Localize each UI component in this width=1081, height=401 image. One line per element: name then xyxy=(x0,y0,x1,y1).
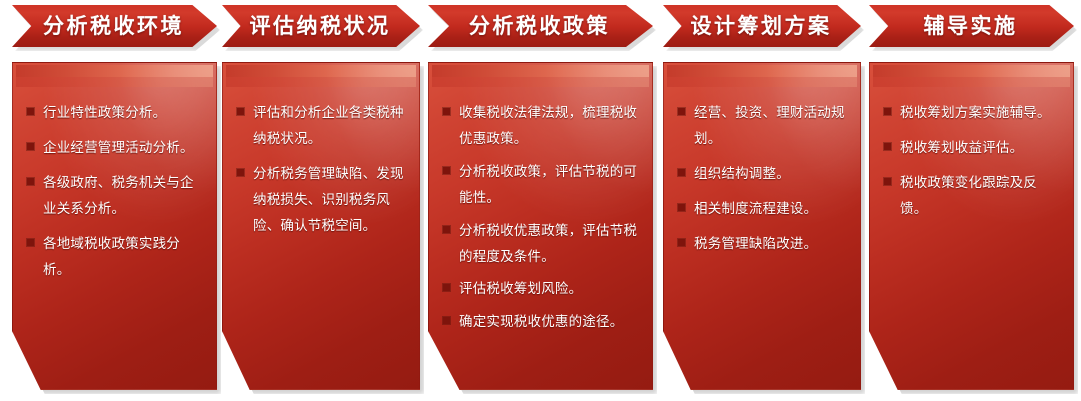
list-item: 评估和分析企业各类税种纳税状况。 xyxy=(237,101,409,153)
bullet-text: 收集税收法律法规，梳理税收优惠政策。 xyxy=(459,101,642,153)
square-bullet-icon xyxy=(443,284,450,291)
list-item: 收集税收法律法规，梳理税收优惠政策。 xyxy=(443,101,642,153)
process-column-4: 设计筹划方案 经营、投资、理财活动规划。 组织结构调整。 xyxy=(663,0,861,401)
bullet-text: 相关制度流程建设。 xyxy=(694,197,817,223)
bullet-text: 各地域税收政策实践分析。 xyxy=(43,232,206,284)
stage-panel-2: 评估和分析企业各类税种纳税状况。 分析税务管理缺陷、发现纳税损失、识别税务风险、… xyxy=(222,62,420,390)
bullet-text: 税收筹划收益评估。 xyxy=(900,136,1023,162)
square-bullet-icon xyxy=(678,239,685,246)
bullet-text: 组织结构调整。 xyxy=(694,162,790,188)
list-item: 经营、投资、理财活动规划。 xyxy=(678,101,850,153)
bullet-text: 行业特性政策分析。 xyxy=(43,101,166,127)
square-bullet-icon xyxy=(443,167,450,174)
bullet-text: 分析税务管理缺陷、发现纳税损失、识别税务风险、确认节税空间。 xyxy=(253,162,409,240)
bullet-text: 税收政策变化跟踪及反馈。 xyxy=(900,171,1063,223)
list-item: 分析税收优惠政策，评估节税的程度及条件。 xyxy=(443,219,642,271)
list-item: 税务管理缺陷改进。 xyxy=(678,232,850,258)
stage-panel-wrap-3: 收集税收法律法规，梳理税收优惠政策。 分析税收政策，评估节税的可能性。 分析税收… xyxy=(428,62,653,390)
list-item: 税收政策变化跟踪及反馈。 xyxy=(884,171,1063,223)
list-item: 各级政府、税务机关与企业关系分析。 xyxy=(27,171,206,223)
square-bullet-icon xyxy=(27,178,34,185)
square-bullet-icon xyxy=(237,108,244,115)
list-item: 确定实现税收优惠的途径。 xyxy=(443,310,642,336)
list-item: 行业特性政策分析。 xyxy=(27,101,206,127)
bullet-text: 分析税收优惠政策，评估节税的程度及条件。 xyxy=(459,219,642,271)
square-bullet-icon xyxy=(27,108,34,115)
bullet-list-5: 税收筹划方案实施辅导。 税收筹划收益评估。 税收政策变化跟踪及反馈。 xyxy=(870,63,1073,223)
square-bullet-icon xyxy=(237,169,244,176)
stage-banner-title-3: 分析税收政策 xyxy=(469,16,610,37)
list-item: 企业经营管理活动分析。 xyxy=(27,136,206,162)
square-bullet-icon xyxy=(27,239,34,246)
stage-banner-4[interactable]: 设计筹划方案 xyxy=(663,5,861,47)
bullet-text: 评估税收筹划风险。 xyxy=(459,277,582,303)
bullet-text: 税收筹划方案实施辅导。 xyxy=(900,101,1051,127)
stage-panel-1: 行业特性政策分析。 企业经营管理活动分析。 各级政府、税务机关与企业关系分析。 … xyxy=(12,62,217,390)
bullet-text: 各级政府、税务机关与企业关系分析。 xyxy=(43,171,206,223)
list-item: 组织结构调整。 xyxy=(678,162,850,188)
bullet-list-3: 收集税收法律法规，梳理税收优惠政策。 分析税收政策，评估节税的可能性。 分析税收… xyxy=(429,63,652,336)
bullet-list-1: 行业特性政策分析。 企业经营管理活动分析。 各级政府、税务机关与企业关系分析。 … xyxy=(13,63,216,283)
bullet-list-4: 经营、投资、理财活动规划。 组织结构调整。 相关制度流程建设。 税务管理缺陷改进… xyxy=(664,63,860,258)
list-item: 税收筹划方案实施辅导。 xyxy=(884,101,1063,127)
stage-panel-5: 税收筹划方案实施辅导。 税收筹划收益评估。 税收政策变化跟踪及反馈。 xyxy=(869,62,1074,390)
list-item: 各地域税收政策实践分析。 xyxy=(27,232,206,284)
process-column-1: 分析税收环境 行业特性政策分析。 企业经营管理活动分析。 xyxy=(12,0,217,401)
stage-banner-title-1: 分析税收环境 xyxy=(43,16,184,37)
square-bullet-icon xyxy=(884,108,891,115)
process-column-3: 分析税收政策 收集税收法律法规，梳理税收优惠政策。 分析税收政策，评估节税的可能… xyxy=(428,0,653,401)
list-item: 税收筹划收益评估。 xyxy=(884,136,1063,162)
stage-banner-title-2: 评估纳税状况 xyxy=(250,16,391,37)
stage-panel-wrap-4: 经营、投资、理财活动规划。 组织结构调整。 相关制度流程建设。 税务管理缺陷改进… xyxy=(663,62,861,390)
square-bullet-icon xyxy=(884,178,891,185)
stage-banner-5[interactable]: 辅导实施 xyxy=(869,5,1074,47)
square-bullet-icon xyxy=(884,143,891,150)
stage-panel-4: 经营、投资、理财活动规划。 组织结构调整。 相关制度流程建设。 税务管理缺陷改进… xyxy=(663,62,861,390)
stage-banner-1[interactable]: 分析税收环境 xyxy=(12,5,217,47)
stage-panel-3: 收集税收法律法规，梳理税收优惠政策。 分析税收政策，评估节税的可能性。 分析税收… xyxy=(428,62,653,390)
square-bullet-icon xyxy=(678,204,685,211)
list-item: 相关制度流程建设。 xyxy=(678,197,850,223)
stage-panel-wrap-5: 税收筹划方案实施辅导。 税收筹划收益评估。 税收政策变化跟踪及反馈。 xyxy=(869,62,1074,390)
process-column-2: 评估纳税状况 评估和分析企业各类税种纳税状况。 分析税务管理缺陷、发现纳税损失、… xyxy=(222,0,420,401)
stage-panel-wrap-1: 行业特性政策分析。 企业经营管理活动分析。 各级政府、税务机关与企业关系分析。 … xyxy=(12,62,217,390)
bullet-text: 评估和分析企业各类税种纳税状况。 xyxy=(253,101,409,153)
stage-banner-title-4: 设计筹划方案 xyxy=(691,16,832,37)
bullet-text: 确定实现税收优惠的途径。 xyxy=(459,310,623,336)
process-diagram: 分析税收环境 行业特性政策分析。 企业经营管理活动分析。 xyxy=(0,0,1081,401)
list-item: 分析税收政策，评估节税的可能性。 xyxy=(443,160,642,212)
square-bullet-icon xyxy=(678,169,685,176)
process-column-5: 辅导实施 税收筹划方案实施辅导。 税收筹划收益评估。 xyxy=(869,0,1074,401)
square-bullet-icon xyxy=(27,143,34,150)
bullet-text: 企业经营管理活动分析。 xyxy=(43,136,194,162)
stage-banner-title-5: 辅导实施 xyxy=(923,16,1017,37)
bullet-text: 经营、投资、理财活动规划。 xyxy=(694,101,850,153)
stage-panel-wrap-2: 评估和分析企业各类税种纳税状况。 分析税务管理缺陷、发现纳税损失、识别税务风险、… xyxy=(222,62,420,390)
stage-banner-2[interactable]: 评估纳税状况 xyxy=(222,5,420,47)
square-bullet-icon xyxy=(443,108,450,115)
square-bullet-icon xyxy=(443,226,450,233)
bullet-text: 税务管理缺陷改进。 xyxy=(694,232,817,258)
list-item: 分析税务管理缺陷、发现纳税损失、识别税务风险、确认节税空间。 xyxy=(237,162,409,240)
stage-banner-3[interactable]: 分析税收政策 xyxy=(428,5,653,47)
bullet-list-2: 评估和分析企业各类税种纳税状况。 分析税务管理缺陷、发现纳税损失、识别税务风险、… xyxy=(223,63,419,240)
list-item: 评估税收筹划风险。 xyxy=(443,277,642,303)
square-bullet-icon xyxy=(443,317,450,324)
square-bullet-icon xyxy=(678,108,685,115)
bullet-text: 分析税收政策，评估节税的可能性。 xyxy=(459,160,642,212)
